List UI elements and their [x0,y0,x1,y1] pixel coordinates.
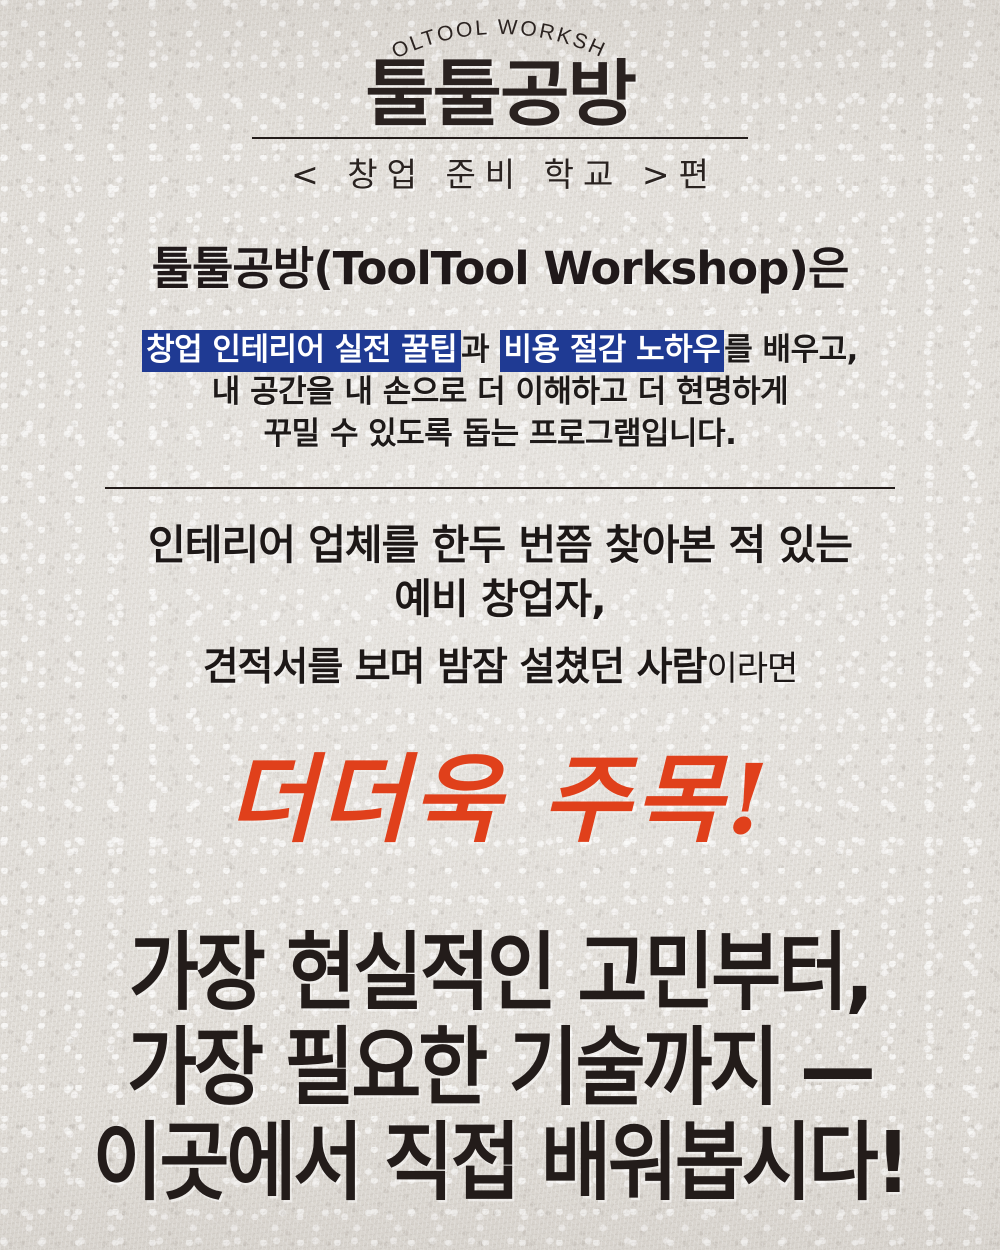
callout-attention: 더더욱 주목! [0,752,1000,848]
intro-headline: 툴툴공방(ToolTool Workshop)은 [0,243,1000,295]
intro-after-highlight: 를 배우고, [724,332,858,368]
closing-line-2: 가장 필요한 기술까지 — [0,1025,1000,1110]
subtitle-tail: 편 [679,155,709,194]
audience-block-bottom: 견적서를 보며 밤잠 설쳤던 사람이라면 [0,645,1000,692]
audience-line-2: 예비 창업자, [0,572,1000,626]
highlight-phrase-2: 비용 절감 노하우 [500,330,725,372]
audience-line-3-light: 이라면 [706,649,797,689]
intro-paragraph: 창업 인테리어 실전 꿀팁과 비용 절감 노하우를 배우고, 내 공간을 내 손… [0,330,1000,456]
audience-line-1: 인테리어 업체를 한두 번쯤 찾아본 적 있는 [0,518,1000,572]
subtitle: < 창업 준비 학교 >편 [0,148,1000,196]
closing-line-3: 이곳에서 직접 배워봅시다! [0,1120,1000,1205]
intro-paragraph-line-2: 내 공간을 내 손으로 더 이해하고 더 현명하게 [0,372,1000,414]
logo-wordmark: 툴툴공방 [0,58,1000,130]
intro-paragraph-line-1: 창업 인테리어 실전 꿀팁과 비용 절감 노하우를 배우고, [0,330,1000,372]
audience-block-top: 인테리어 업체를 한두 번쯤 찾아본 적 있는 예비 창업자, [0,518,1000,626]
intro-paragraph-line-3: 꾸밀 수 있도록 돕는 프로그램입니다. [0,414,1000,456]
closing-line-1: 가장 현실적인 고민부터, [0,930,1000,1015]
divider-middle [105,487,895,489]
highlight-phrase-1: 창업 인테리어 실전 꿀팁 [142,330,461,372]
brand-logo-block: TOOLTOOL WORKSHOP 툴툴공방 [0,16,1000,130]
intro-connector: 과 [461,332,489,368]
poster-canvas: TOOLTOOL WORKSHOP 툴툴공방 < 창업 준비 학교 >편 툴툴공… [0,0,1000,1250]
subtitle-brackets: < 창업 준비 학교 > [291,155,678,194]
audience-line-3-strong: 견적서를 보며 밤잠 설쳤던 사람 [203,645,707,690]
divider-top [252,137,748,139]
